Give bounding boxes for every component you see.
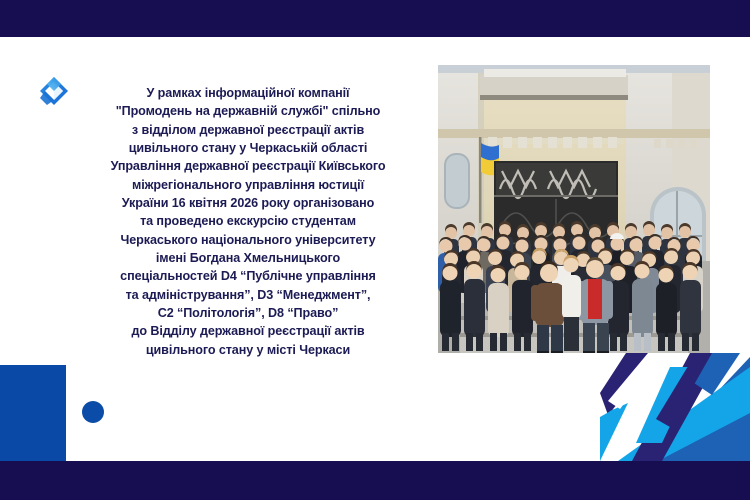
- decorative-circle: [82, 401, 104, 423]
- body-line: Черкаського національного університету: [78, 231, 418, 249]
- body-line: України 16 квітня 2026 року організовано: [78, 194, 418, 212]
- diamond-logo-icon: [39, 76, 69, 106]
- bottom-navy-band: [0, 461, 750, 500]
- body-line: У рамках інформаційної компанії: [78, 84, 418, 102]
- body-line: "Промодень на державній службі" спільно: [78, 102, 418, 120]
- decorative-diagonal-stripes: [600, 353, 750, 461]
- body-line: спеціальностей D4 “Публічне управління: [78, 267, 418, 285]
- decorative-square: [0, 365, 66, 461]
- body-line: міжрегіонального управління юстиції: [78, 176, 418, 194]
- body-line: та проведено екскурсію студентам: [78, 212, 418, 230]
- body-line: Управління державної реєстрації Київсько…: [78, 157, 418, 175]
- top-navy-band: [0, 0, 750, 37]
- body-line: імені Богдана Хмельницького: [78, 249, 418, 267]
- body-line: до Відділу державної реєстрації актів: [78, 322, 418, 340]
- body-line: цивільного стану у Черкаській області: [78, 139, 418, 157]
- body-line: цивільного стану у місті Черкаси: [78, 341, 418, 359]
- body-line: та адміністрування”, D3 “Менеджмент”,: [78, 286, 418, 304]
- body-line: C2 “Політологія”, D8 “Право”: [78, 304, 418, 322]
- group-photo: [438, 65, 710, 353]
- slide-canvas: У рамках інформаційної компанії "Промоде…: [0, 0, 750, 500]
- body-line: з відділом державної реєстрації актів: [78, 121, 418, 139]
- slide-body-text: У рамках інформаційної компанії "Промоде…: [78, 84, 418, 359]
